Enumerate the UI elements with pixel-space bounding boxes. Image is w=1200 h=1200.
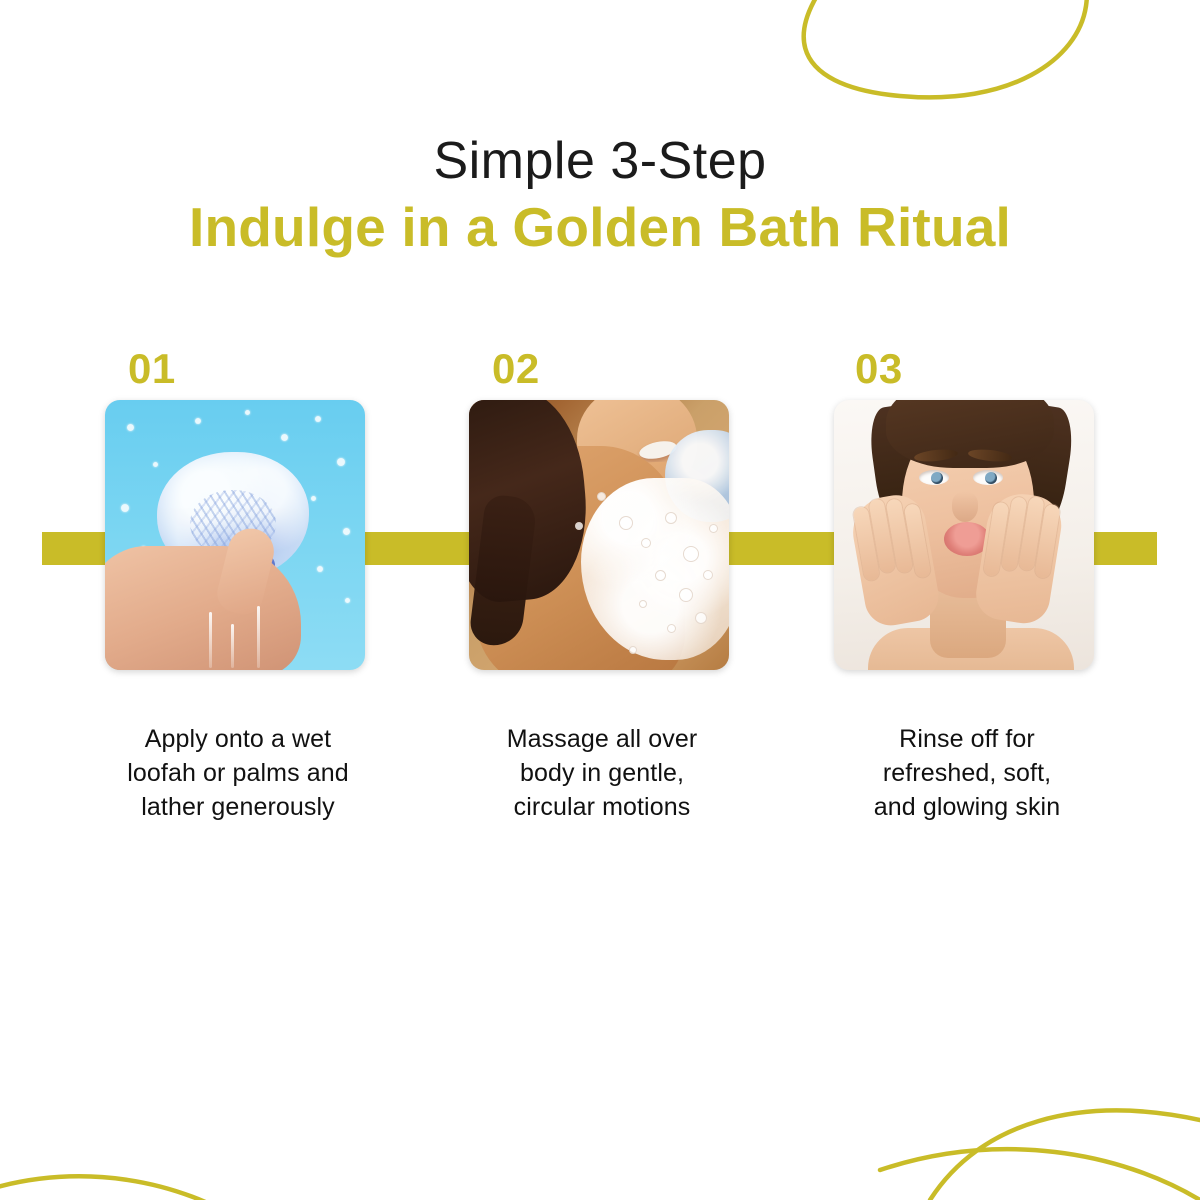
- nose-shape: [952, 492, 978, 522]
- step-caption-1-line3: lather generously: [88, 790, 388, 824]
- hair-top-shape: [886, 400, 1054, 468]
- steps-container: 01: [0, 0, 1200, 1200]
- water-stream-3: [257, 606, 260, 668]
- step-caption-3-line1: Rinse off for: [817, 722, 1117, 756]
- step-caption-2-line2: body in gentle,: [452, 756, 752, 790]
- step-caption-3: Rinse off for refreshed, soft, and glowi…: [817, 722, 1117, 824]
- step-caption-1: Apply onto a wet loofah or palms and lat…: [88, 722, 388, 824]
- hand-holding-loofah-image: [105, 400, 365, 670]
- step-caption-1-line1: Apply onto a wet: [88, 722, 388, 756]
- foam-bubbles-group: [469, 400, 729, 670]
- step-caption-3-line2: refreshed, soft,: [817, 756, 1117, 790]
- step-number-2: 02: [452, 348, 752, 400]
- step-image-card-3: [834, 400, 1094, 670]
- step-caption-3-line3: and glowing skin: [817, 790, 1117, 824]
- eye-left: [919, 470, 949, 485]
- step-caption-1-line2: loofah or palms and: [88, 756, 388, 790]
- step-image-card-2: [469, 400, 729, 670]
- step-caption-2-line3: circular motions: [452, 790, 752, 824]
- step-caption-2: Massage all over body in gentle, circula…: [452, 722, 752, 824]
- woman-washing-face-image: [834, 400, 1094, 670]
- step-caption-2-line1: Massage all over: [452, 722, 752, 756]
- step-item-2: 02: [452, 348, 752, 824]
- hand-shape: [105, 546, 301, 670]
- step-number-1: 01: [88, 348, 388, 400]
- water-stream-2: [231, 624, 234, 668]
- step-item-1: 01: [88, 348, 388, 824]
- step-image-card-1: [105, 400, 365, 670]
- eye-right: [973, 470, 1003, 485]
- step-number-3: 03: [817, 348, 1117, 400]
- massaging-foam-on-back-image: [469, 400, 729, 670]
- step-item-3: 03: [817, 348, 1117, 824]
- water-stream-1: [209, 612, 212, 668]
